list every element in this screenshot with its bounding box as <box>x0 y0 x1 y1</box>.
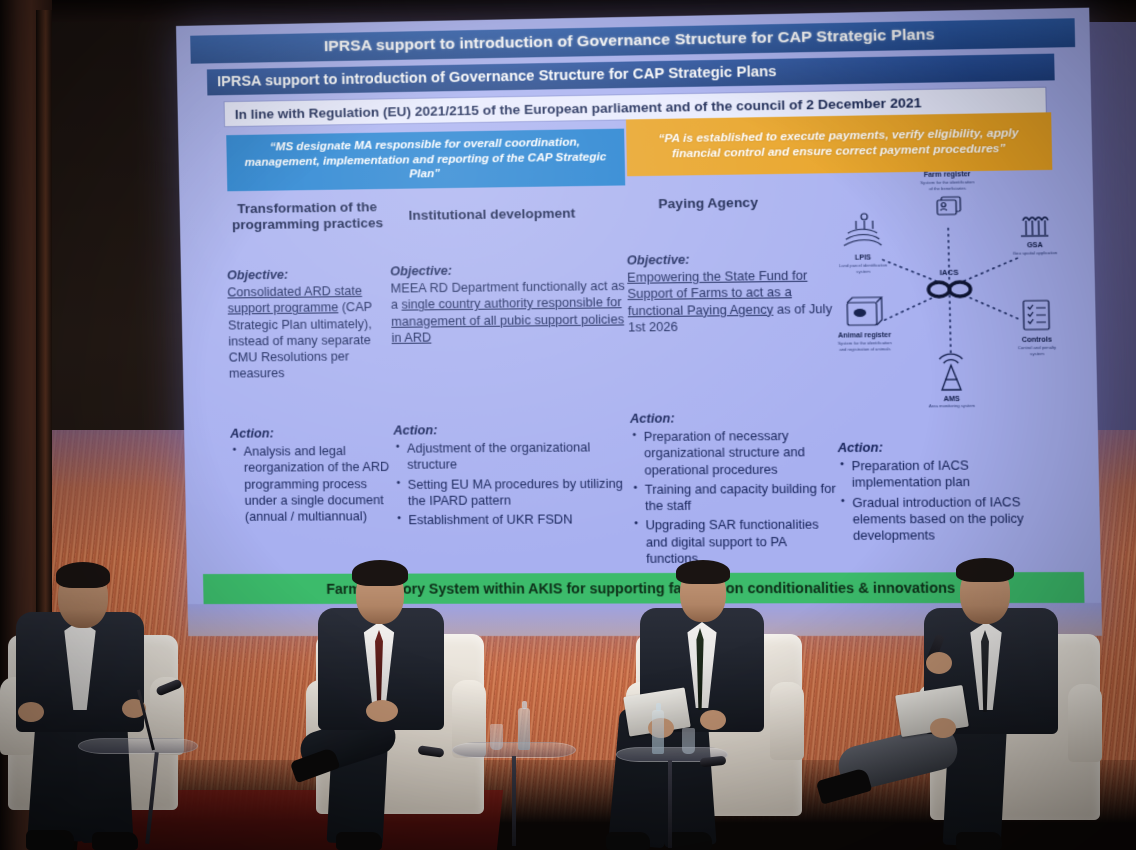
svg-text:and registration of animals: and registration of animals <box>839 346 890 352</box>
svg-text:System for the identification: System for the identification <box>920 179 975 185</box>
column-4-actions: Action: Preparation of IACS implementati… <box>837 438 1060 547</box>
objective-label-2: Objective: <box>390 261 625 280</box>
id-card-icon <box>937 197 960 215</box>
objective-label-3: Objective: <box>627 250 834 269</box>
armchair-arm <box>1068 684 1102 762</box>
shoe <box>606 832 650 850</box>
column-2-objective: Objective: MEEA RD Department functional… <box>390 261 626 347</box>
checklist-icon <box>1023 301 1049 330</box>
hair <box>352 560 408 586</box>
conference-room-scene: IPRSA support to introduction of Governa… <box>0 0 1136 850</box>
action-list-4: Preparation of IACS implementation plan … <box>838 457 1060 544</box>
water-bottle[interactable] <box>652 710 664 754</box>
svg-text:GSA: GSA <box>1027 242 1043 249</box>
svg-text:Area monitoring system: Area monitoring system <box>929 403 976 408</box>
antenna-icon <box>939 354 963 390</box>
action-list-1: Analysis and legal reorganization of the… <box>230 443 393 525</box>
action-list-3: Preparation of necessary organizational … <box>630 428 840 567</box>
svg-text:system: system <box>856 269 870 274</box>
action-label-1: Action: <box>230 425 392 442</box>
action-item: Setting EU MA procedures by utilizing th… <box>394 475 624 509</box>
water-bottle[interactable] <box>518 708 530 750</box>
action-item: Analysis and legal reorganization of the… <box>230 443 393 525</box>
table-leg <box>668 760 672 848</box>
cow-box-icon <box>847 297 882 325</box>
action-item: Gradual introduction of IACS elements ba… <box>839 494 1060 545</box>
hair <box>676 560 730 584</box>
ms-quote-box: “MS designate MA responsible for overall… <box>226 129 625 192</box>
drinking-glass[interactable] <box>490 724 503 750</box>
iacs-center-label: IACS <box>940 268 959 277</box>
crops-icon <box>1021 217 1049 236</box>
iacs-node-animal-register: Animal register System for the identific… <box>837 297 893 352</box>
svg-text:System for the identification: System for the identification <box>838 340 893 346</box>
shoe <box>92 832 138 850</box>
akis-footer-banner: Farm Advisory System within AKIS for sup… <box>203 572 1085 604</box>
action-item: Training and capacity building for the s… <box>631 481 839 515</box>
column-1-objective: Objective: Consolidated ARD state suppor… <box>227 266 385 383</box>
field-parcel-icon <box>843 213 881 245</box>
iacs-node-farm-register: Farm register System for the identificat… <box>920 171 976 215</box>
svg-text:Animal register: Animal register <box>838 332 892 340</box>
hand <box>700 710 726 730</box>
iacs-node-gsa: GSA Geo spatial application <box>1012 217 1058 256</box>
svg-text:LPIS: LPIS <box>855 254 872 261</box>
objective-label-1: Objective: <box>227 266 383 284</box>
column-3-objective: Objective: Empowering the State Fund for… <box>627 250 836 336</box>
action-item: Establishment of UKR FSDN <box>395 511 625 528</box>
projection-screen: IPRSA support to introduction of Governa… <box>176 8 1102 636</box>
column-heading-transformation: Transformation of the programming practi… <box>222 199 394 234</box>
column-3-actions: Action: Preparation of necessary organiz… <box>630 409 840 570</box>
hand <box>930 718 956 738</box>
objective-underlined-2: single country authority responsible for… <box>391 296 624 345</box>
svg-text:Geo spatial application: Geo spatial application <box>1013 250 1059 256</box>
action-item: Adjustment of the organizational structu… <box>394 439 624 473</box>
shoe <box>668 832 712 850</box>
drinking-glass[interactable] <box>682 728 695 754</box>
iacs-node-ams: AMS Area monitoring system <box>928 354 976 409</box>
svg-text:system: system <box>1030 351 1045 356</box>
column-2-actions: Action: Adjustment of the organizational… <box>393 421 625 532</box>
action-label-3: Action: <box>630 409 837 427</box>
iacs-diagram: IACS Farm register System for the identi… <box>826 162 1075 409</box>
table-leg <box>512 756 516 846</box>
side-table <box>78 738 198 754</box>
armchair-arm <box>770 682 804 760</box>
action-list-2: Adjustment of the organizational structu… <box>394 439 625 528</box>
action-label-2: Action: <box>393 421 623 439</box>
svg-text:Controls: Controls <box>1022 337 1053 344</box>
column-heading-institutional: Institutional development <box>395 205 589 224</box>
iacs-node-controls: Controls Control and penalty system <box>1017 300 1057 356</box>
shoe <box>26 830 74 850</box>
svg-text:of the beneficiaries: of the beneficiaries <box>929 186 966 192</box>
svg-text:Control and penalty: Control and penalty <box>1018 345 1057 351</box>
hand <box>18 702 44 722</box>
hair <box>956 558 1014 582</box>
column-1-actions: Action: Analysis and legal reorganizatio… <box>230 425 393 529</box>
iacs-node-lpis: LPIS Land parcel identification system <box>838 213 888 274</box>
action-item: Preparation of IACS implementation plan <box>838 457 1059 491</box>
svg-text:Farm register: Farm register <box>924 171 971 179</box>
svg-text:Land parcel identification: Land parcel identification <box>839 262 888 268</box>
hair <box>56 562 110 588</box>
shoe <box>956 832 1002 850</box>
chain-link-icon <box>928 282 970 297</box>
action-item: Upgrading SAR functionalities and digita… <box>632 517 840 567</box>
clasped-hands <box>366 700 398 722</box>
action-label-4: Action: <box>837 438 1058 456</box>
action-item: Preparation of necessary organizational … <box>630 428 838 479</box>
shoe <box>336 832 382 850</box>
column-heading-paying-agency: Paying Agency <box>615 194 801 213</box>
hand <box>926 652 952 674</box>
slide-canvas: IPRSA support to introduction of Governa… <box>176 8 1102 636</box>
